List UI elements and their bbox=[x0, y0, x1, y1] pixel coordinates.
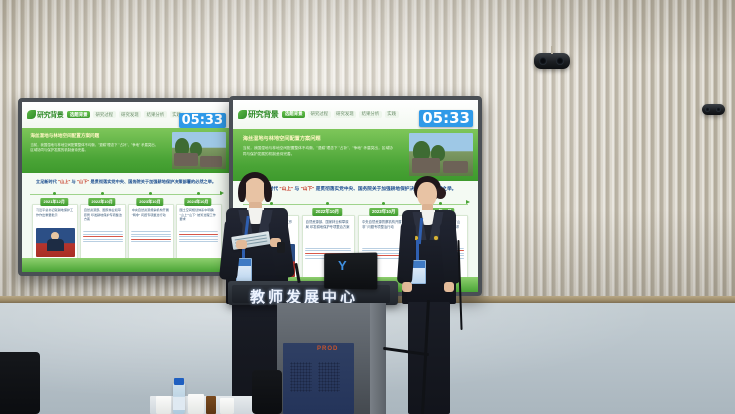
bottle-cap-icon bbox=[174, 378, 184, 385]
timeline-card-date: 2022年10月 bbox=[88, 198, 115, 206]
countdown-timer-left: 05:33 bbox=[179, 113, 226, 128]
slide-left-statement: 立足新时代 "山上" 与 "山下" 是贯彻落实党中央、国务院关于加强耕地保护决策… bbox=[28, 179, 224, 185]
slide-left-banner: 海丝湿地与林地空间配置方案问题 当前，我国湿地与林地空间配置整体不均衡，"退耕"… bbox=[22, 128, 230, 174]
podium-vent bbox=[318, 362, 340, 392]
timeline-card-text: 国土空间规划体系中明确 "山上""山下" 统筹治理工作要求 bbox=[180, 208, 218, 221]
timeline-card-text: 中央自然资源督察机构开展 "两非" 问题专项整治行动 bbox=[132, 208, 170, 217]
timeline-card-image bbox=[83, 231, 122, 256]
tab-result-analysis[interactable]: 结果分析 bbox=[359, 111, 382, 118]
presentation-clicker[interactable] bbox=[277, 242, 285, 253]
banner-subtitle: 当前，我国湿地与林地空间配置整体不均衡，"退耕"理念下 "占补"、"争地" 矛盾… bbox=[30, 143, 159, 153]
slide-left-footer bbox=[22, 258, 230, 272]
tab-research-process[interactable]: 研究过程 bbox=[93, 111, 116, 118]
badge-header bbox=[237, 259, 251, 266]
statement-mid: 与 bbox=[72, 179, 76, 184]
hand-right bbox=[444, 282, 454, 292]
timeline-card-image bbox=[36, 228, 75, 257]
brand-label: 研究背景 bbox=[248, 109, 278, 120]
timeline-axis bbox=[30, 194, 221, 195]
slide-left-nav[interactable]: 选题背景 研究过程 研究发现 结果分析 实践 bbox=[67, 111, 183, 118]
tab-research-findings[interactable]: 研究发现 bbox=[119, 111, 142, 118]
leaf-icon bbox=[27, 110, 36, 119]
timeline-card-date: 2023年10月 bbox=[369, 208, 398, 216]
slide-left: 研究背景 选题背景 研究过程 研究发现 结果分析 实践 05:33 海丝湿地与林… bbox=[22, 102, 230, 272]
statement-prefix: 立足新时代 bbox=[36, 179, 57, 184]
timeline-card[interactable]: 中央自然资源督察机构开展 "两非" 问题专项整治行动 bbox=[128, 204, 174, 260]
timeline-card-image bbox=[179, 231, 218, 256]
banner-title: 海丝湿地与林地空间配置方案问题 bbox=[30, 133, 99, 139]
statement-quote-2: "山下" bbox=[301, 186, 315, 191]
face bbox=[244, 178, 266, 205]
timeline-dot bbox=[326, 202, 329, 205]
timeline-card-text: 自然资源部、国家林业和草原局 印发耕地保护专项整治方案 bbox=[306, 220, 351, 230]
timeline-dot bbox=[53, 192, 56, 195]
slide-right-brand: 研究背景 bbox=[238, 109, 278, 120]
bottle-label bbox=[173, 397, 185, 410]
water-bottle bbox=[173, 383, 185, 414]
banner-photo bbox=[172, 132, 226, 170]
lapel-pin-icon bbox=[434, 236, 438, 240]
podium-brand-logo: PROD bbox=[317, 346, 338, 352]
tab-research-findings[interactable]: 研究发现 bbox=[334, 111, 357, 118]
photo-scene: 研究背景 选题背景 研究过程 研究发现 结果分析 实践 05:33 海丝湿地与林… bbox=[0, 0, 735, 414]
hand-left bbox=[236, 240, 247, 249]
podium-vent bbox=[290, 362, 312, 392]
statement-body: 是贯彻落实党中央、国务院关于加强耕地保护决策部署的必然之举。 bbox=[90, 179, 216, 184]
display-left[interactable]: 研究背景 选题背景 研究过程 研究发现 结果分析 实践 05:33 海丝湿地与林… bbox=[18, 98, 234, 276]
timeline-card[interactable]: 自然资源部、国家林业和草原局 印发耕地保护专项整治方案 bbox=[80, 204, 126, 260]
timeline-card-date: 2022年10月 bbox=[313, 208, 342, 216]
timeline-dot bbox=[149, 192, 152, 195]
banner-title: 海丝湿地与林地空间配置方案问题 bbox=[243, 135, 321, 142]
leaf-icon bbox=[238, 110, 247, 119]
brand-label: 研究背景 bbox=[37, 110, 63, 120]
tab-topic-background[interactable]: 选题背景 bbox=[67, 111, 90, 118]
tab-result-analysis[interactable]: 结果分析 bbox=[144, 111, 167, 118]
timeline-card-date: 2023年10月 bbox=[136, 198, 163, 206]
paper-cup bbox=[156, 396, 171, 414]
paper-cup bbox=[188, 394, 204, 414]
podium-side-panel bbox=[370, 303, 386, 414]
speaker-camera-icon bbox=[534, 53, 570, 69]
paper-cup bbox=[220, 398, 234, 414]
laptop[interactable] bbox=[324, 252, 377, 289]
slide-right-nav[interactable]: 选题背景 研究过程 研究发现 结果分析 实践 bbox=[282, 111, 398, 118]
banner-subtitle: 当前，我国湿地与林地空间配置整体不均衡，"退耕"理念下 "占补"、"争地" 矛盾… bbox=[243, 146, 395, 157]
timeline-dot bbox=[382, 202, 385, 205]
hair-side bbox=[238, 180, 246, 202]
timeline-card-image bbox=[131, 231, 170, 256]
foreground-silhouette bbox=[0, 352, 40, 414]
foreground-silhouette-right bbox=[252, 370, 282, 414]
timeline-card-text: 自然资源部、国家林业和草原局 印发耕地保护专项整治方案 bbox=[84, 208, 122, 221]
lanyard-strap bbox=[416, 240, 419, 262]
timeline-dot bbox=[197, 192, 200, 195]
beverage-cup bbox=[206, 396, 216, 414]
tab-practice[interactable]: 实践 bbox=[385, 111, 399, 118]
speaker-camera-icon-2 bbox=[702, 104, 725, 115]
timeline-card[interactable]: 习近平总书记就耕地保护工作作出重要批示 bbox=[32, 204, 78, 260]
countdown-timer-right: 05:33 bbox=[419, 110, 473, 127]
timeline-dot bbox=[101, 192, 104, 195]
hand-left bbox=[402, 282, 412, 292]
timeline-card-date: 2021年12月 bbox=[41, 198, 68, 206]
laptop-brand-logo: Y bbox=[338, 258, 347, 273]
statement-quote-2: "山下" bbox=[77, 179, 89, 184]
statement-quote-1: "山上" bbox=[58, 179, 70, 184]
tab-research-process[interactable]: 研究过程 bbox=[308, 111, 331, 118]
timeline-card-date: 2024年10月 bbox=[184, 198, 211, 206]
tab-topic-background[interactable]: 选题背景 bbox=[282, 111, 305, 118]
banner-photo bbox=[409, 133, 473, 175]
hair-side bbox=[264, 180, 272, 202]
slide-left-brand: 研究背景 bbox=[27, 110, 63, 120]
timeline-card-text: 习近平总书记就耕地保护工作作出重要批示 bbox=[36, 208, 74, 217]
